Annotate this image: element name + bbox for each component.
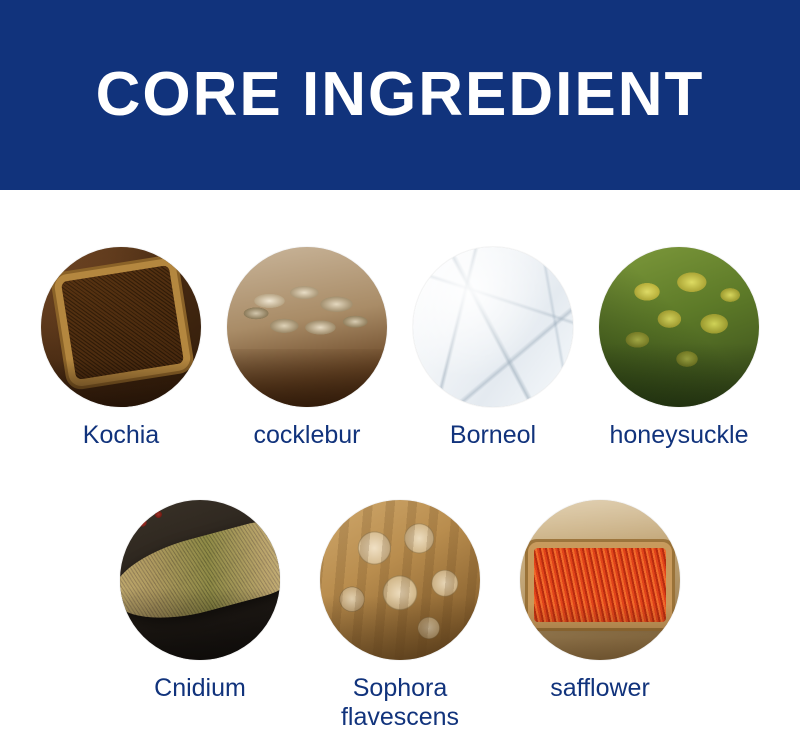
sophora-flavescens-label: Sophora flavescens: [341, 674, 459, 732]
kochia-image: [41, 247, 201, 407]
borneol-photo-art: [413, 247, 573, 407]
safflower-label: safflower: [550, 674, 650, 703]
ingredient-row-1: Kochia cocklebur Borneol honeysuckle: [0, 247, 800, 450]
ingredient-item-honeysuckle: honeysuckle: [586, 247, 772, 450]
sophora-flavescens-photo-art: [320, 500, 480, 660]
sophora-flavescens-image: [320, 500, 480, 660]
borneol-image: [413, 247, 573, 407]
borneol-label: Borneol: [450, 421, 536, 450]
ingredient-item-borneol: Borneol: [400, 247, 586, 450]
cnidium-photo-art: [120, 500, 280, 660]
honeysuckle-image: [599, 247, 759, 407]
cocklebur-image: [227, 247, 387, 407]
ingredient-row-2: Cnidium Sophora flavescens safflower: [0, 500, 800, 732]
ingredient-item-safflower: safflower: [500, 500, 700, 732]
cnidium-label: Cnidium: [154, 674, 246, 703]
ingredient-item-kochia: Kochia: [28, 247, 214, 450]
honeysuckle-label: honeysuckle: [610, 421, 749, 450]
kochia-label: Kochia: [83, 421, 159, 450]
cocklebur-photo-art: [227, 247, 387, 407]
honeysuckle-photo-art: [599, 247, 759, 407]
ingredient-grid: Kochia cocklebur Borneol honeysuckle: [0, 190, 800, 747]
page-title: CORE INGREDIENT: [96, 64, 705, 126]
ingredient-item-cnidium: Cnidium: [100, 500, 300, 732]
safflower-image: [520, 500, 680, 660]
safflower-photo-art: [520, 500, 680, 660]
kochia-photo-art: [41, 247, 201, 407]
ingredient-infographic: CORE INGREDIENT Kochia cocklebur Borne: [0, 0, 800, 747]
cocklebur-label: cocklebur: [254, 421, 361, 450]
header-banner: CORE INGREDIENT: [0, 0, 800, 190]
ingredient-item-cocklebur: cocklebur: [214, 247, 400, 450]
cnidium-image: [120, 500, 280, 660]
ingredient-item-sophora-flavescens: Sophora flavescens: [300, 500, 500, 732]
